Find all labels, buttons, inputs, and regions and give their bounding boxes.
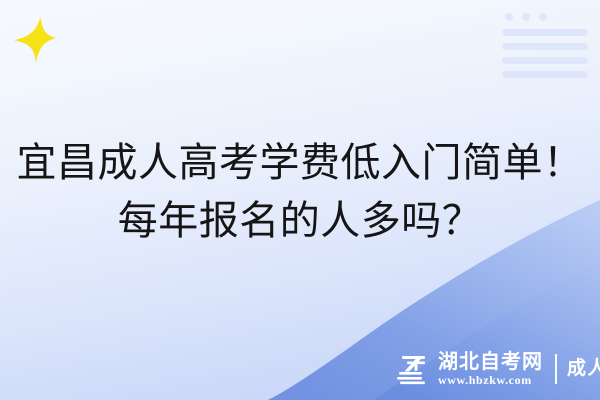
- brand-lockup[interactable]: 湖北自考网 www.hbzkw.com 成人高考: [396, 350, 600, 388]
- brand-text-block: 湖北自考网 www.hbzkw.com: [438, 352, 543, 387]
- brand-url: www.hbzkw.com: [438, 373, 543, 387]
- doc-dots: [505, 13, 588, 21]
- document-lines-icon: [502, 13, 588, 71]
- doc-dot: [505, 13, 513, 21]
- brand-tagline: 成人高考: [567, 358, 600, 380]
- doc-dot: [522, 13, 530, 21]
- brand-divider: [555, 354, 557, 384]
- doc-bar: [502, 43, 588, 50]
- brand-name: 湖北自考网: [438, 352, 543, 373]
- sparkle-star-icon: [14, 17, 56, 63]
- doc-bars: [502, 29, 588, 78]
- hbzkw-logo-mark-icon: [396, 353, 430, 385]
- doc-bar: [502, 29, 588, 36]
- doc-dot: [539, 13, 547, 21]
- headline: 宜昌成人高考学费低入门简单！ 每年报名的人多吗？: [0, 134, 600, 250]
- doc-bar: [502, 71, 588, 78]
- promo-banner: 宜昌成人高考学费低入门简单！ 每年报名的人多吗？ 湖北自考网 www.hbzkw…: [0, 0, 600, 400]
- headline-line-1: 宜昌成人高考学费低入门简单！: [0, 134, 600, 192]
- headline-line-2: 每年报名的人多吗？: [0, 192, 600, 250]
- doc-bar: [502, 57, 588, 64]
